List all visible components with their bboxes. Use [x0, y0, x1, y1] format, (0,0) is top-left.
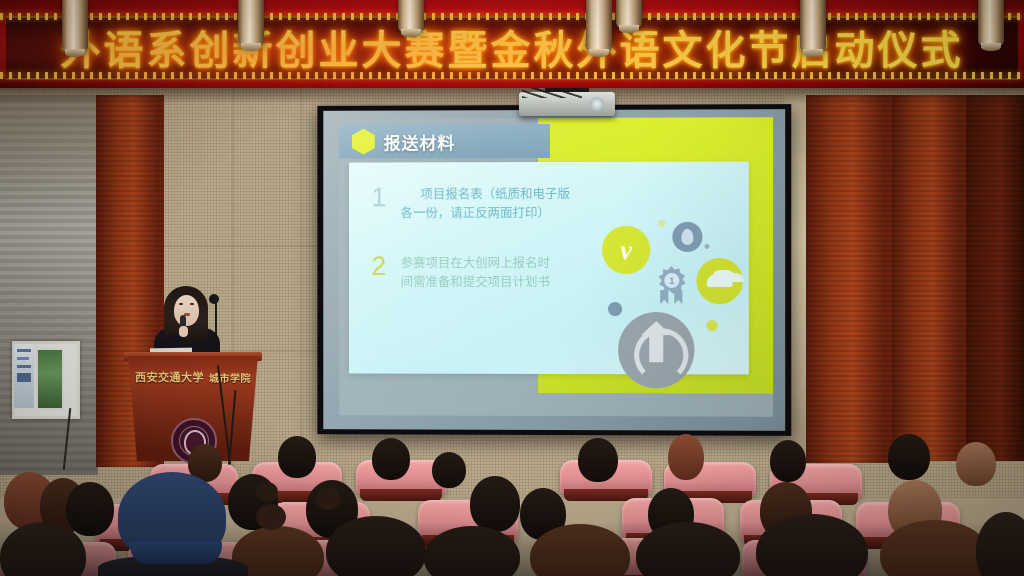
- green-glass-window: [36, 348, 64, 410]
- bullet-line: 间需准备和提交项目计划书: [401, 274, 550, 289]
- slide-title: 报送材料: [384, 129, 456, 154]
- lecture-hall-photo: 报送材料 1 项目报名表（纸质和电子版 各一份，请正反两面打印） 2: [0, 0, 1024, 576]
- audience-head: [976, 512, 1024, 576]
- ribbon-tail: [660, 290, 668, 304]
- bullet-line: 参赛项目在大创网上报名时: [401, 255, 550, 270]
- speaker-eye: [179, 303, 183, 305]
- vimeo-glyph: v: [602, 226, 650, 274]
- podium-institution-text: 西安交通大学 城市学院: [131, 368, 255, 386]
- wood-wall-pillar: [892, 95, 966, 461]
- decorative-dot-icon: [658, 220, 665, 227]
- audience-head: [770, 440, 806, 482]
- speaker-hand: [179, 326, 188, 337]
- audience-head: [888, 434, 930, 480]
- pendant-light: [62, 0, 88, 52]
- bullet-line: 项目报名表（纸质和电子版: [420, 186, 570, 201]
- wood-wall-pillar: [806, 95, 892, 463]
- audience-head: [470, 476, 520, 532]
- pendant-light: [978, 0, 1004, 46]
- audience-head: [66, 482, 114, 536]
- bullet-number: 1: [371, 184, 387, 211]
- audience-head: [278, 436, 316, 478]
- led-banner: 外语系创新创业大赛暨金秋外语文化节启动仪式: [0, 0, 1024, 88]
- badge-rank-label: 1: [664, 273, 679, 288]
- audience-head: [956, 442, 996, 486]
- audience-head: [578, 438, 618, 482]
- decorative-dot-icon: [707, 320, 718, 331]
- projector-lens: [590, 97, 604, 111]
- wood-wall-pillar: [966, 95, 1024, 461]
- pendant-light: [586, 0, 612, 52]
- audience-area: [0, 430, 1024, 576]
- pendant-light: [800, 0, 826, 52]
- cloud-download-circle-icon: [696, 258, 742, 304]
- wall-notice-poster: [14, 344, 34, 408]
- decorative-dot-icon: [608, 302, 622, 316]
- vimeo-circle-icon: v: [602, 226, 650, 274]
- banner-title-text: 外语系创新创业大赛暨金秋外语文化节启动仪式: [0, 19, 1024, 75]
- pendant-light: [238, 0, 264, 46]
- presentation-slide: 报送材料 1 项目报名表（纸质和电子版 各一份，请正反两面打印） 2: [339, 117, 773, 417]
- hexagon-bullet-icon: [352, 129, 375, 155]
- projection-screen: 报送材料 1 项目报名表（纸质和电子版 各一份，请正反两面打印） 2: [323, 109, 785, 431]
- pendant-light: [398, 0, 424, 32]
- slide-title-bar: 报送材料: [339, 124, 550, 159]
- cap-brim-icon: [130, 542, 222, 564]
- bullet-line: 各一份，请正反两面打印）: [401, 205, 550, 220]
- wall-seam: [300, 78, 302, 478]
- pendant-light: [616, 0, 642, 28]
- slide-icon-cluster: v 1: [586, 216, 749, 393]
- hair-bun: [256, 482, 278, 502]
- slide-content-card: 1 项目报名表（纸质和电子版 各一份，请正反两面打印） 2 参赛项目在大创网上报…: [349, 162, 749, 375]
- audience-head: [756, 514, 868, 576]
- speaker-face: [174, 295, 199, 326]
- speaker-eye: [190, 303, 194, 305]
- audience-head: [432, 452, 466, 488]
- award-ribbon-icon: 1: [656, 266, 686, 296]
- audience-head: [326, 516, 426, 576]
- bullet-text: 项目报名表（纸质和电子版 各一份，请正反两面打印）: [401, 184, 570, 223]
- bullet-text: 参赛项目在大创网上报名时 间需准备和提交项目计划书: [401, 253, 550, 292]
- decorative-dot-icon: [704, 244, 709, 249]
- institution-college: 城市学院: [209, 370, 251, 385]
- institution-name: 西安交通大学: [135, 369, 204, 385]
- user-circle-icon: [672, 222, 702, 252]
- ribbon-tail: [674, 290, 682, 304]
- projection-screen-frame: 报送材料 1 项目报名表（纸质和电子版 各一份，请正反两面打印） 2: [317, 104, 791, 436]
- list-item: 2 参赛项目在大创网上报名时 间需准备和提交项目计划书: [371, 253, 585, 292]
- slide-bullet-list: 1 项目报名表（纸质和电子版 各一份，请正反两面打印） 2 参赛项目在大创网上报…: [371, 184, 585, 322]
- audience-head: [668, 434, 704, 480]
- bullet-number: 2: [371, 253, 387, 280]
- audience-head: [372, 438, 410, 480]
- list-item: 1 项目报名表（纸质和电子版 各一份，请正反两面打印）: [371, 184, 585, 223]
- hair-bun: [256, 504, 286, 530]
- hair-bun: [316, 488, 340, 510]
- upload-arrow-shape: [649, 332, 663, 362]
